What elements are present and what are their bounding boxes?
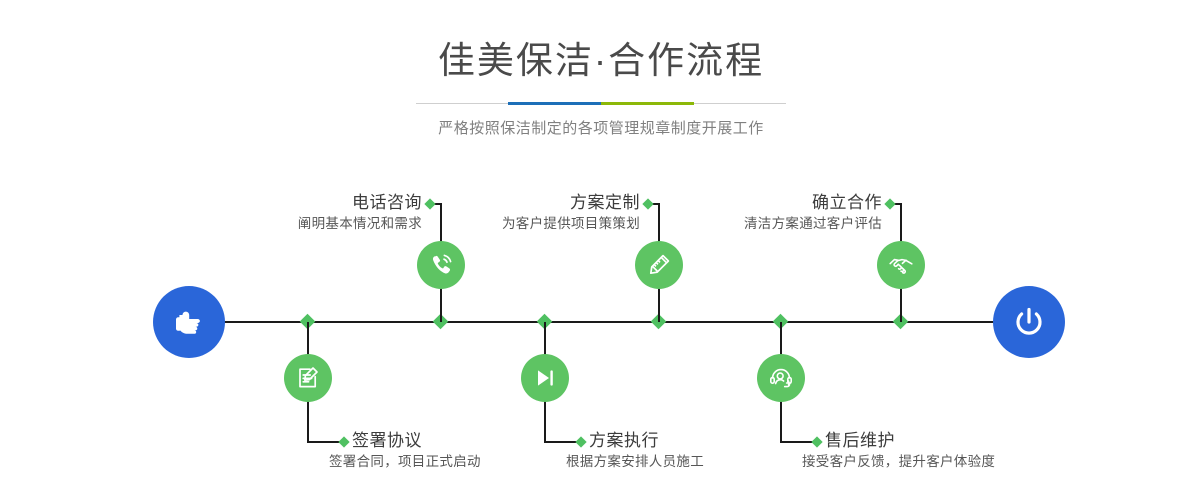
step-label-top-1: 电话咨询 阐明基本情况和需求 — [180, 192, 422, 233]
timeline-end-endpoint — [993, 286, 1065, 358]
step-label-top-2: 方案定制 为客户提供项目策策划 — [398, 192, 640, 233]
step-desc: 清洁方案通过客户评估 — [640, 214, 882, 233]
sign-document-icon — [294, 364, 322, 392]
power-button-icon — [1009, 302, 1049, 342]
flow-diagram-page: 佳美保洁·合作流程 严格按照保洁制定的各项管理规章制度开展工作 — [0, 0, 1202, 502]
step-desc: 签署合同，项目正式启动 — [329, 452, 481, 471]
play-execute-icon — [531, 364, 559, 392]
step-label-top-3: 确立合作 清洁方案通过客户评估 — [640, 192, 882, 233]
timeline-start-endpoint — [153, 286, 225, 358]
step-title: 售后维护 — [825, 430, 995, 452]
step-title: 方案执行 — [589, 430, 704, 452]
step-desc: 为客户提供项目策策划 — [398, 214, 640, 233]
step-title: 方案定制 — [398, 192, 640, 214]
step-desc: 接受客户反馈，提升客户体验度 — [802, 452, 995, 471]
pointing-hand-icon — [169, 302, 209, 342]
step-icon-top-3 — [877, 241, 925, 289]
step-label-bottom-1: 签署协议 签署合同，项目正式启动 — [352, 430, 481, 471]
step-title: 确立合作 — [640, 192, 882, 214]
step-icon-top-1 — [417, 241, 465, 289]
phone-call-icon — [427, 251, 455, 279]
step-label-bottom-2: 方案执行 根据方案安排人员施工 — [589, 430, 704, 471]
step-icon-bottom-2 — [521, 354, 569, 402]
label-marker-bottom-1 — [338, 436, 349, 447]
label-marker-bottom-2 — [575, 436, 586, 447]
step-desc: 阐明基本情况和需求 — [180, 214, 422, 233]
step-icon-top-2 — [635, 241, 683, 289]
label-marker-top-3 — [884, 198, 895, 209]
handshake-icon — [887, 251, 915, 279]
step-icon-bottom-3 — [757, 354, 805, 402]
step-title: 电话咨询 — [180, 192, 422, 214]
pencil-ruler-icon — [645, 251, 673, 279]
process-timeline: 电话咨询 阐明基本情况和需求 方案定制 为客户提供项目策策划 — [0, 0, 1202, 502]
step-desc: 根据方案安排人员施工 — [566, 452, 704, 471]
customer-service-icon — [767, 364, 795, 392]
step-title: 签署协议 — [352, 430, 481, 452]
step-label-bottom-3: 售后维护 接受客户反馈，提升客户体验度 — [825, 430, 995, 471]
step-icon-bottom-1 — [284, 354, 332, 402]
label-marker-bottom-3 — [811, 436, 822, 447]
